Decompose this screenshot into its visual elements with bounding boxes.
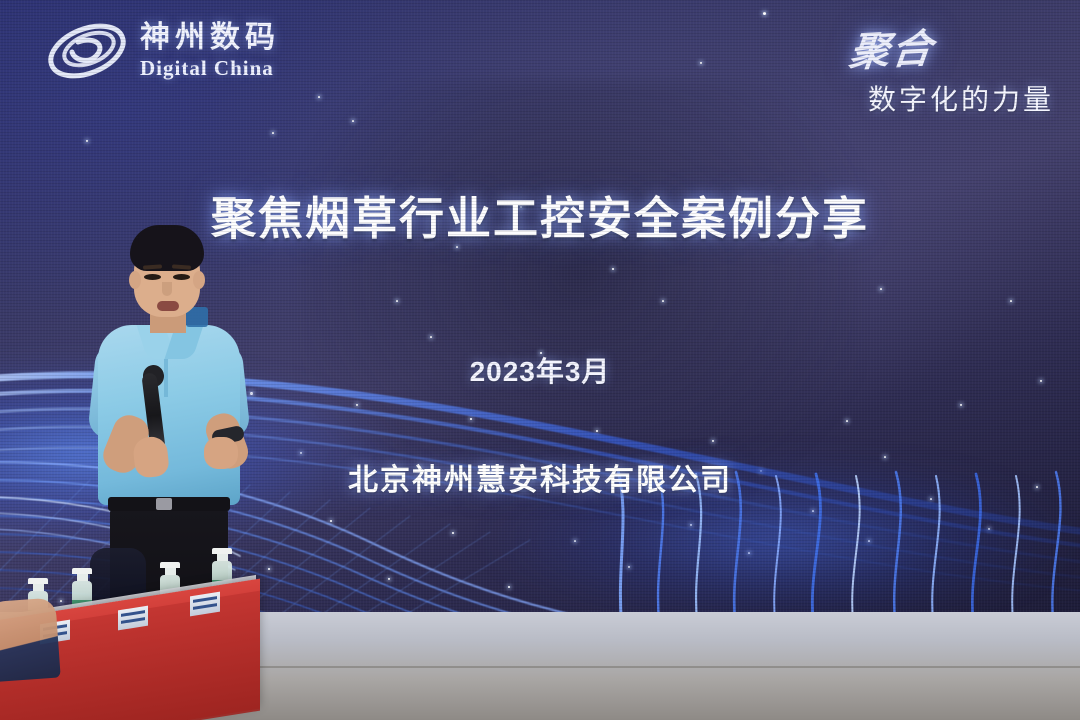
speaker-ear-right — [193, 271, 205, 289]
speaker-ear-left — [129, 271, 141, 289]
light-particle — [86, 140, 88, 142]
speaker-nose — [162, 282, 172, 296]
brand-name-en: Digital China — [140, 58, 280, 79]
speaker-eye-left — [144, 274, 161, 280]
light-particle — [763, 12, 766, 15]
light-particle — [318, 96, 320, 98]
light-particle — [700, 62, 702, 64]
brand-name-cn: 神州数码 — [140, 23, 280, 53]
light-particle — [612, 268, 614, 270]
light-particle — [1010, 300, 1012, 302]
speaker-belt-buckle — [156, 498, 172, 510]
event-slogan: 聚合 数字化的力量 — [850, 18, 1054, 118]
speaker-mouth — [157, 301, 179, 311]
light-particle — [662, 300, 664, 302]
speaker-hand-right — [204, 437, 238, 469]
slogan-subtitle: 数字化的力量 — [850, 78, 1054, 118]
speaker-hair — [130, 225, 204, 271]
conference-stage-photo: 神州数码 Digital China 聚合 数字化的力量 聚焦烟草行业工控安全案… — [0, 0, 1080, 720]
slogan-brush-text: 聚合 — [847, 16, 938, 78]
brand-logo: 神州数码 Digital China — [44, 18, 280, 84]
light-particle — [396, 300, 398, 302]
foreground-audience-person — [0, 598, 61, 683]
light-particle — [352, 120, 354, 122]
light-particle — [880, 288, 882, 290]
speaker-eye-right — [173, 274, 190, 280]
light-particle — [272, 132, 274, 134]
digital-china-swirl-icon — [44, 18, 130, 84]
